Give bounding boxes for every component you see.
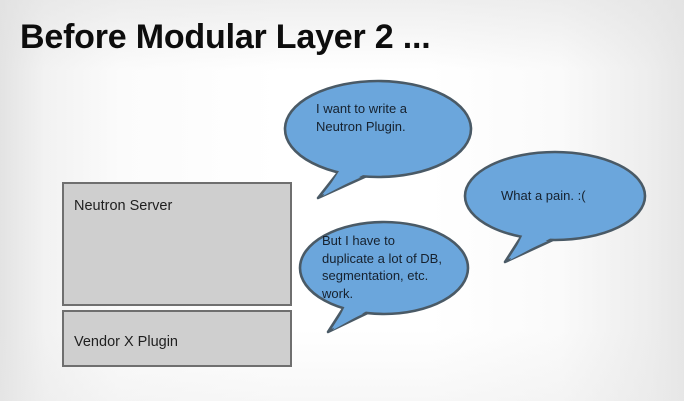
box-vendor-x-plugin-label: Vendor X Plugin bbox=[74, 333, 178, 351]
speech-bubble-duplicate-work[interactable]: But I have to duplicate a lot of DB, seg… bbox=[298, 220, 473, 335]
slide-canvas: Before Modular Layer 2 ... Neutron Serve… bbox=[0, 0, 684, 401]
speech-bubble-shape-icon bbox=[463, 150, 648, 265]
box-neutron-server[interactable]: Neutron Server bbox=[62, 182, 292, 306]
speech-bubble-duplicate-work-text: But I have to duplicate a lot of DB, seg… bbox=[322, 232, 447, 302]
speech-bubble-what-a-pain-text: What a pain. :( bbox=[501, 187, 641, 205]
speech-bubble-write-plugin-text: I want to write a Neutron Plugin. bbox=[316, 100, 446, 135]
page-title: Before Modular Layer 2 ... bbox=[20, 17, 430, 57]
speech-bubble-write-plugin[interactable]: I want to write a Neutron Plugin. bbox=[283, 78, 473, 203]
speech-bubble-shape-icon bbox=[283, 78, 473, 203]
box-vendor-x-plugin[interactable]: Vendor X Plugin bbox=[62, 310, 292, 367]
neutron-architecture-stack: Neutron Server Vendor X Plugin bbox=[62, 182, 292, 367]
box-neutron-server-label: Neutron Server bbox=[74, 197, 172, 215]
speech-bubble-what-a-pain[interactable]: What a pain. :( bbox=[463, 150, 648, 265]
